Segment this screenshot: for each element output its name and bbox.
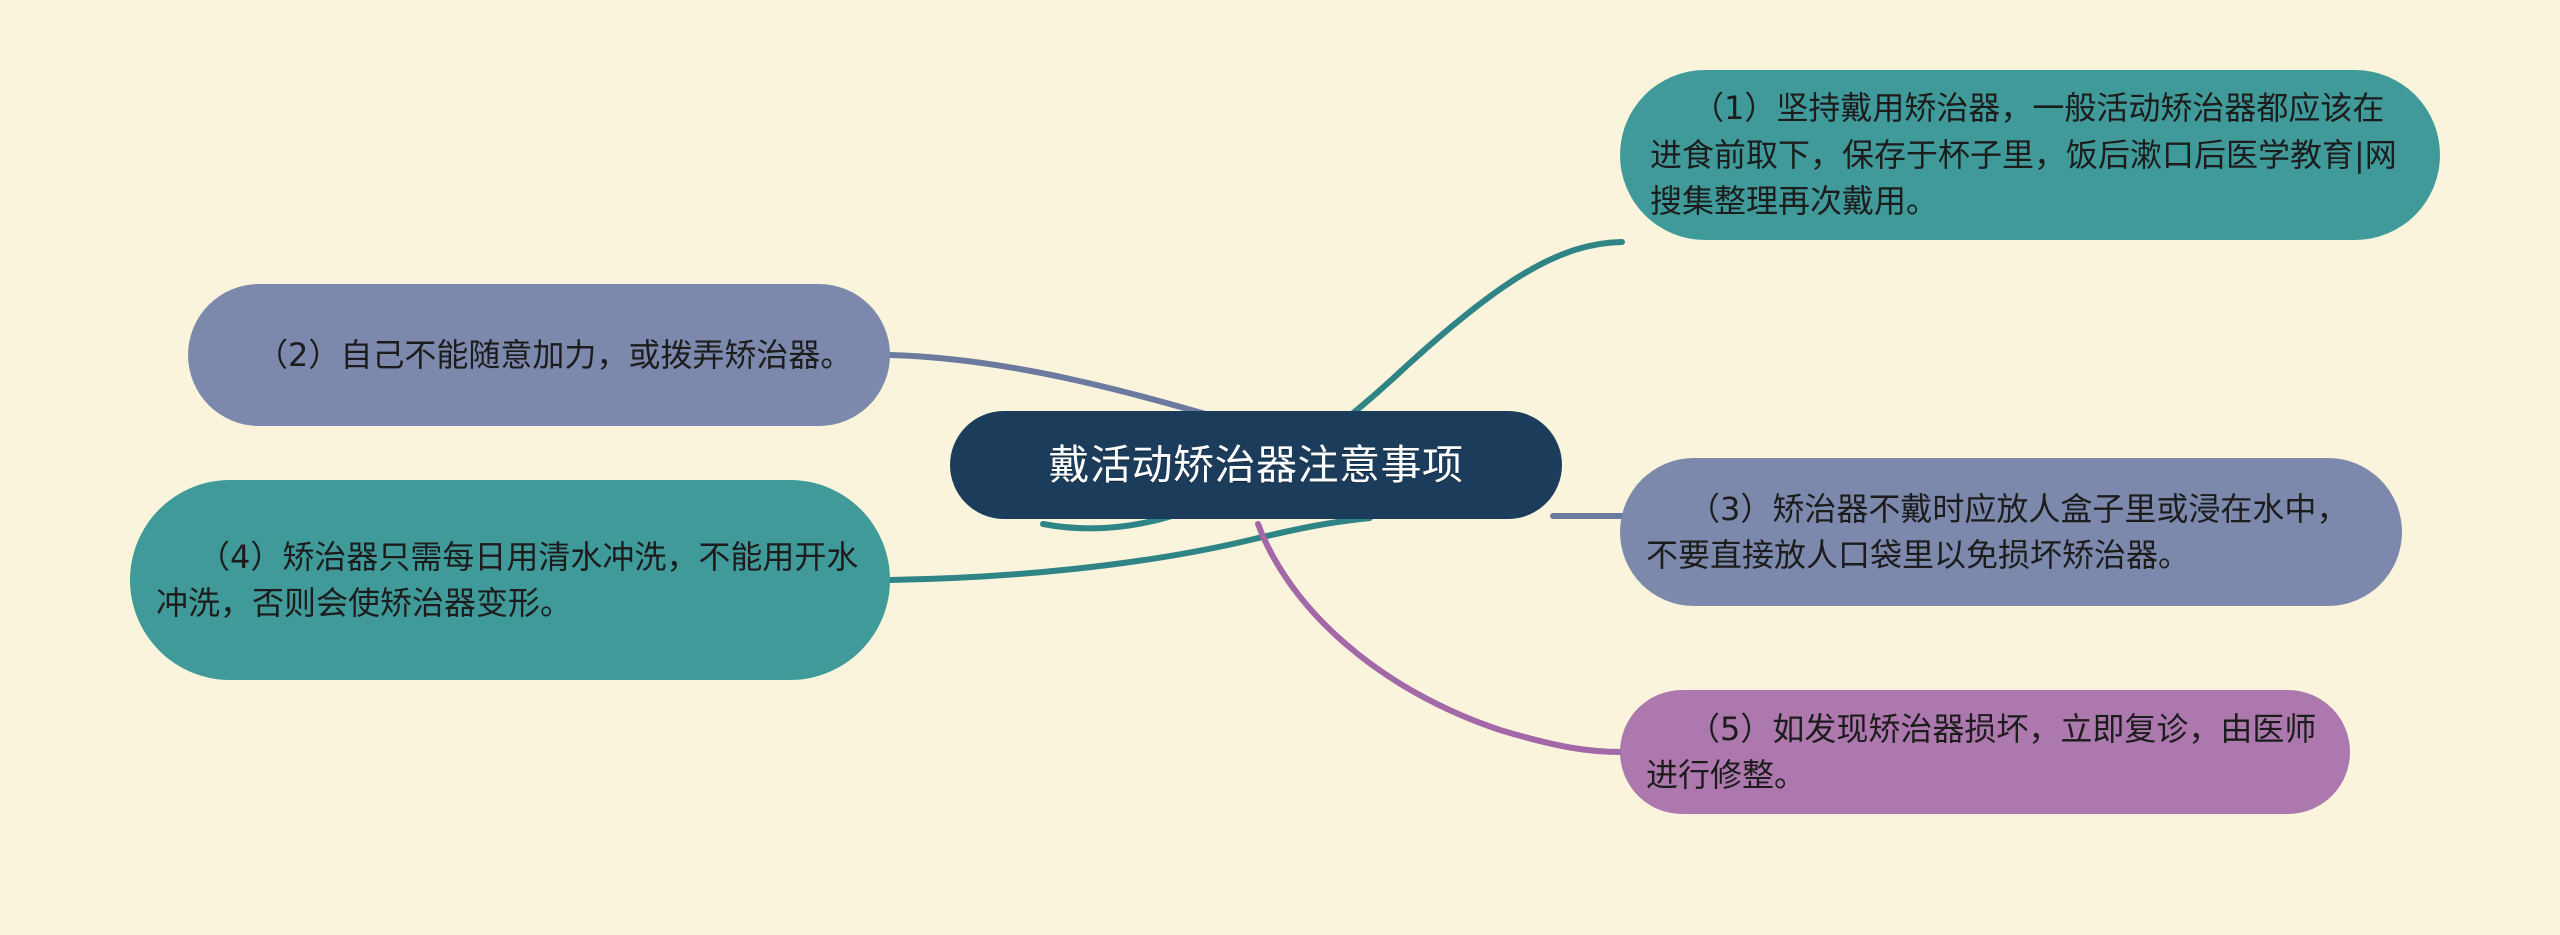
- branch-node-1-label: （1）坚持戴用矫治器，一般活动矫治器都应该在进食前取下，保存于杯子里，饭后漱口后…: [1650, 85, 2406, 224]
- mind-map-canvas: 戴活动矫治器注意事项 （1）坚持戴用矫治器，一般活动矫治器都应该在进食前取下，保…: [0, 0, 2560, 935]
- central-topic-label: 戴活动矫治器注意事项: [950, 441, 1562, 489]
- branch-node-3[interactable]: （3）矫治器不戴时应放人盒子里或浸在水中，不要直接放人口袋里以免损坏矫治器。: [1620, 458, 2402, 606]
- branch-node-4[interactable]: （4）矫治器只需每日用清水冲洗，不能用开水冲洗，否则会使矫治器变形。: [130, 480, 890, 680]
- central-topic-node[interactable]: 戴活动矫治器注意事项: [950, 411, 1562, 519]
- branch-node-2[interactable]: （2）自己不能随意加力，或拨弄矫治器。: [188, 284, 890, 426]
- connector-branch-5: [1258, 524, 1622, 752]
- branch-node-1[interactable]: （1）坚持戴用矫治器，一般活动矫治器都应该在进食前取下，保存于杯子里，饭后漱口后…: [1620, 70, 2440, 240]
- branch-node-3-label: （3）矫治器不戴时应放人盒子里或浸在水中，不要直接放人口袋里以免损坏矫治器。: [1646, 486, 2372, 579]
- branch-node-5[interactable]: （5）如发现矫治器损坏，立即复诊，由医师进行修整。: [1620, 690, 2350, 814]
- connector-branch-4: [888, 518, 1370, 580]
- branch-node-2-label: （2）自己不能随意加力，或拨弄矫治器。: [214, 332, 860, 378]
- branch-node-5-label: （5）如发现矫治器损坏，立即复诊，由医师进行修整。: [1646, 706, 2320, 799]
- branch-node-4-label: （4）矫治器只需每日用清水冲洗，不能用开水冲洗，否则会使矫治器变形。: [156, 534, 860, 627]
